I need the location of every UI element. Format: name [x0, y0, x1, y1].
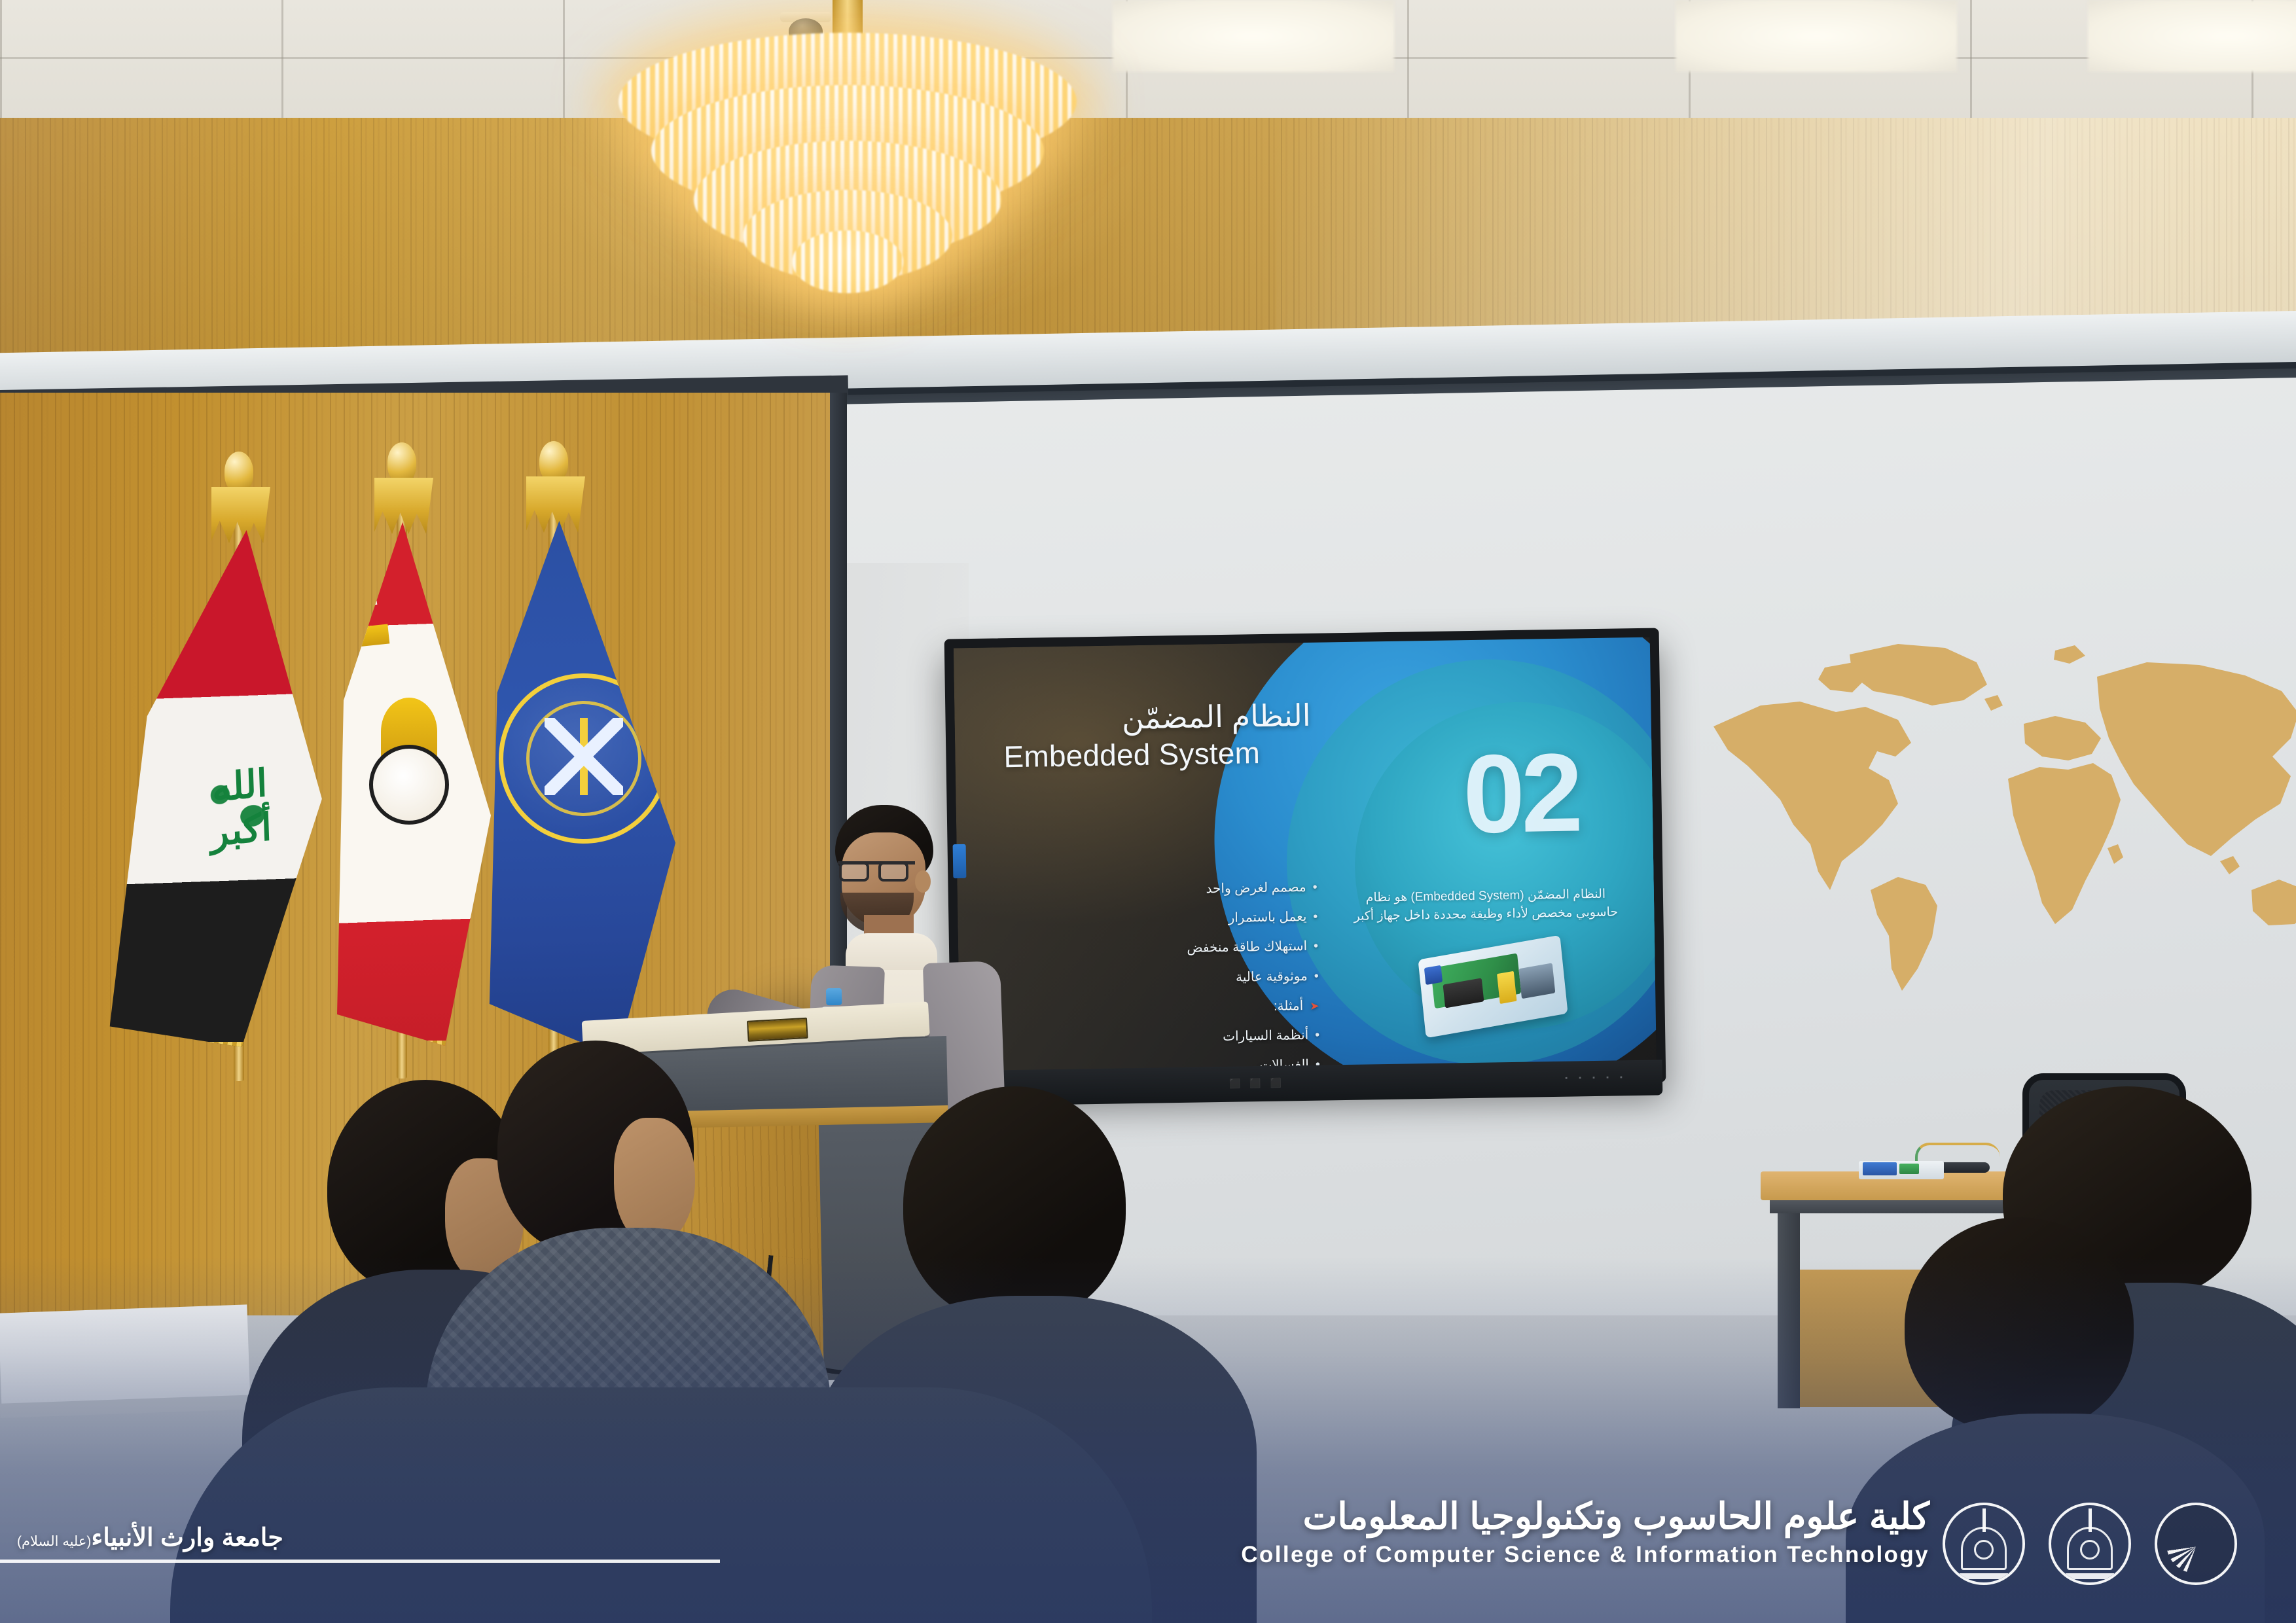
logo-row — [1943, 1503, 2237, 1585]
list-item-examples-header: أمثلة: — [1057, 991, 1319, 1024]
list-item: يعمل باستمرار — [1056, 902, 1318, 936]
ministry-sunburst-icon — [2166, 1514, 2225, 1573]
university-seal-icon — [499, 673, 669, 844]
university-seal-logo — [2049, 1503, 2131, 1585]
seal-base — [1960, 1573, 2008, 1579]
seal-graphic — [1956, 1512, 2012, 1575]
list-item: استهلاك طاقة منخفض — [1056, 932, 1319, 965]
presenter-ear — [915, 870, 931, 893]
emblem-small-flag-icon — [336, 580, 378, 610]
slide-description: النظام المضمّن (Embedded System) هو نظام… — [1352, 885, 1621, 925]
board-pcb — [1899, 1164, 1919, 1174]
eyeglasses-lens-left — [839, 862, 869, 882]
presentation-slide: 02 النظام المضمّن (Embedded System) هو ن… — [954, 637, 1657, 1084]
audience-head — [1905, 1217, 2134, 1433]
board-connector-blue — [1424, 965, 1443, 985]
slide-title-arabic: النظام المضمّن — [1003, 699, 1311, 738]
ceiling-light-panel — [1113, 0, 1394, 72]
interactive-display-screen[interactable]: 02 النظام المضمّن (Embedded System) هو ن… — [944, 628, 1666, 1093]
chandelier — [599, 0, 1096, 314]
university-flag — [419, 452, 694, 1093]
world-map-wall-decal — [1702, 628, 2296, 995]
board-connector-blue — [1863, 1162, 1897, 1175]
podium-nameplate — [747, 1018, 808, 1042]
display-brand-label: ⬛ ⬛ ⬛ — [1229, 1077, 1285, 1089]
college-name-arabic: كلية علوم الحاسوب وتكنولوجيا المعلومات — [1241, 1495, 1929, 1538]
chandelier-tier — [792, 230, 903, 293]
board-port — [1518, 963, 1555, 999]
audience-face — [614, 1118, 695, 1246]
ministry-seal-logo — [2155, 1503, 2237, 1585]
flag-finial — [387, 442, 416, 483]
audience-head — [903, 1086, 1126, 1322]
bottle-cap — [826, 988, 842, 1005]
seal-base — [2066, 1573, 2114, 1579]
display-key-indicators: ▪ ▪ ▪ ▪ ▪ — [1565, 1073, 1627, 1082]
flag-banner — [482, 521, 675, 1058]
college-seal-logo — [1943, 1503, 2025, 1585]
flag-finial — [224, 452, 253, 492]
college-name-english: College of Computer Science & Informatio… — [1241, 1542, 1929, 1568]
university-name-arabic: جامعة وارث الأنبياء — [91, 1524, 283, 1552]
seal-graphic — [2062, 1512, 2118, 1575]
desk-leg — [1778, 1212, 1800, 1408]
slide-title-english: Embedded System — [1003, 734, 1312, 774]
screenshot-root: الله أكبر — [0, 0, 2296, 1623]
university-seal-mark — [545, 718, 623, 795]
seal-center-icon — [1974, 1540, 1994, 1560]
ceiling-light-panel — [2088, 0, 2296, 72]
audience-body — [170, 1387, 1152, 1623]
watermark-rule — [0, 1560, 720, 1563]
audience-member-front-row — [170, 1387, 1152, 1623]
eyeglasses-icon — [838, 861, 915, 881]
list-item: أنظمة السيارات — [1058, 1021, 1320, 1054]
open-book-icon — [2080, 1540, 2100, 1560]
slide-title: النظام المضمّن Embedded System — [1003, 699, 1312, 774]
board-connector-yellow — [1497, 971, 1516, 1004]
slide-bullet-list: مصمم لغرض واحد يعمل باستمرار استهلاك طاق… — [1055, 873, 1321, 1094]
footer-branding: كلية علوم الحاسوب وتكنولوجيا المعلومات C… — [1241, 1495, 1929, 1568]
university-honorific: (عليه السلام) — [17, 1534, 91, 1549]
ceiling-light-panel — [1676, 0, 1957, 72]
flag-finial — [539, 441, 568, 482]
list-item: موثوقية عالية — [1056, 961, 1319, 995]
list-item: مصمم لغرض واحد — [1055, 873, 1318, 906]
university-watermark: جامعة وارث الأنبياء(عليه السلام) — [17, 1523, 283, 1552]
slide-section-number: 02 — [1462, 728, 1580, 859]
eyeglasses-lens-right — [878, 862, 908, 882]
